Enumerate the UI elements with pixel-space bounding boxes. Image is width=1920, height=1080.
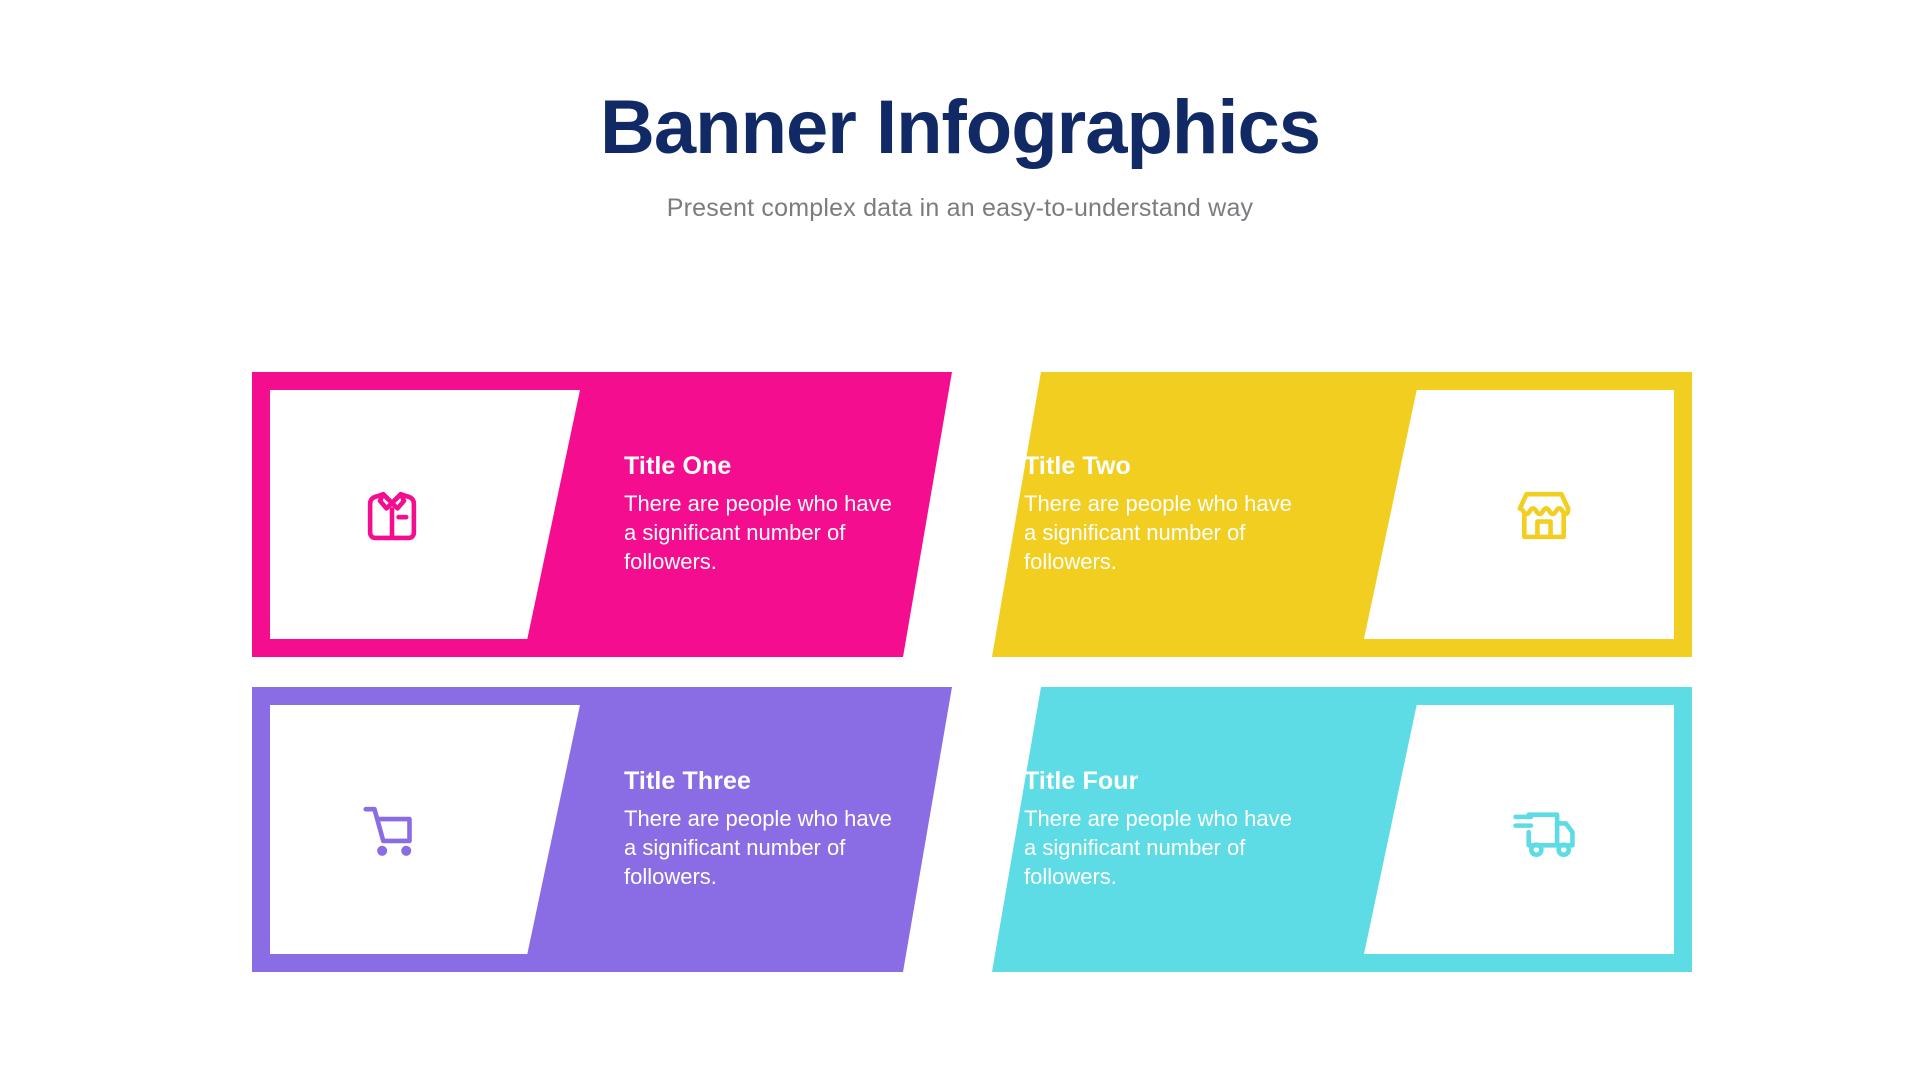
page-title: Banner Infographics bbox=[0, 88, 1920, 168]
card-description: There are people who have a significant … bbox=[624, 804, 904, 891]
card-description: There are people who have a significant … bbox=[1024, 489, 1304, 576]
card-title-three[interactable]: Title Three There are people who have a … bbox=[252, 687, 952, 972]
page-header: Banner Infographics Present complex data… bbox=[0, 0, 1920, 223]
infographic-page: Banner Infographics Present complex data… bbox=[0, 0, 1920, 1080]
card-title-one[interactable]: Title One There are people who have a si… bbox=[252, 372, 952, 657]
card-text: Title Two There are people who have a si… bbox=[1024, 453, 1304, 577]
card-title-two[interactable]: Title Two There are people who have a si… bbox=[992, 372, 1692, 657]
icon-panel bbox=[1364, 705, 1674, 954]
delivery-truck-icon bbox=[1496, 782, 1592, 878]
card-description: There are people who have a significant … bbox=[1024, 804, 1304, 891]
card-title: Title Three bbox=[624, 768, 904, 796]
cards-grid: Title One There are people who have a si… bbox=[252, 372, 1692, 972]
icon-panel bbox=[270, 390, 580, 639]
folded-shirt-icon bbox=[344, 467, 440, 563]
card-title: Title Four bbox=[1024, 768, 1304, 796]
icon-panel bbox=[270, 705, 580, 954]
storefront-icon bbox=[1496, 467, 1592, 563]
icon-panel bbox=[1364, 390, 1674, 639]
card-description: There are people who have a significant … bbox=[624, 489, 904, 576]
card-title-four[interactable]: Title Four There are people who have a s… bbox=[992, 687, 1692, 972]
card-text: Title One There are people who have a si… bbox=[624, 453, 904, 577]
card-text: Title Four There are people who have a s… bbox=[1024, 768, 1304, 892]
card-title: Title One bbox=[624, 453, 904, 481]
shopping-cart-icon bbox=[344, 782, 440, 878]
card-text: Title Three There are people who have a … bbox=[624, 768, 904, 892]
page-subtitle: Present complex data in an easy-to-under… bbox=[0, 194, 1920, 223]
card-title: Title Two bbox=[1024, 453, 1304, 481]
